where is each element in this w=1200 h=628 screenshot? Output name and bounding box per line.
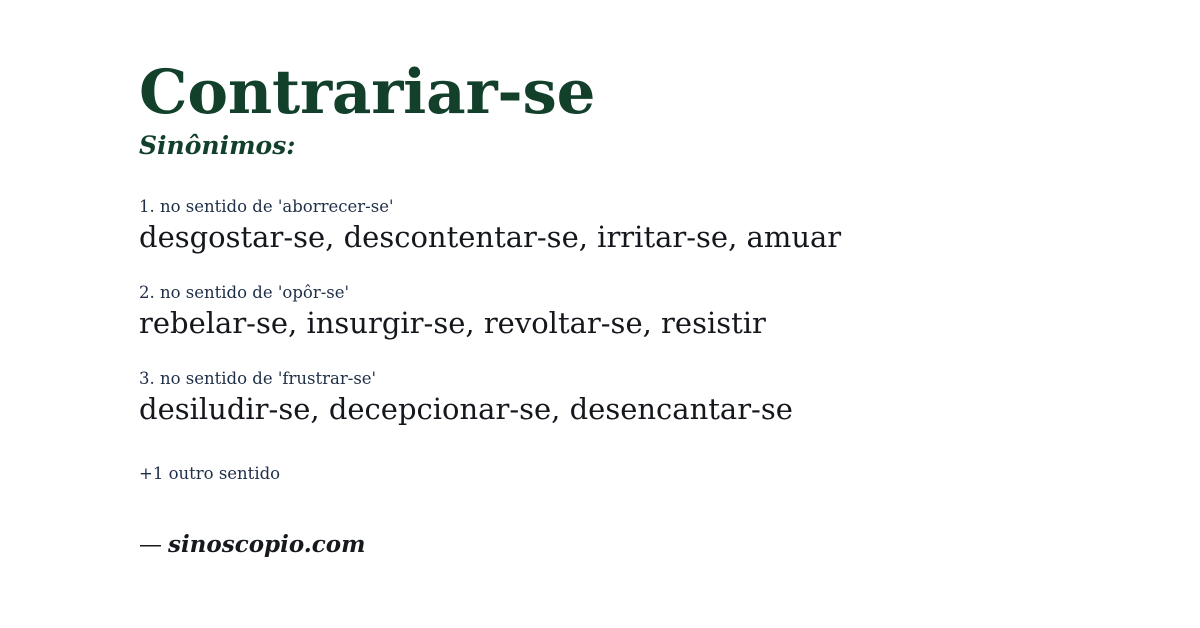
em-dash-icon: — [139,532,168,558]
more-senses-note: +1 outro sentido [139,464,280,485]
sense-synonyms: desgostar-se, descontentar-se, irritar-s… [139,220,1139,255]
sense-block: 1. no sentido de 'aborrecer-se' desgosta… [139,197,1139,255]
section-label-synonyms: Sinônimos: [139,133,296,158]
sense-block: 2. no sentido de 'opôr-se' rebelar-se, i… [139,283,1139,341]
sense-synonyms: rebelar-se, insurgir-se, revoltar-se, re… [139,306,1139,341]
sense-label: 2. no sentido de 'opôr-se' [139,283,1139,304]
sense-label: 1. no sentido de 'aborrecer-se' [139,197,1139,218]
sense-block: 3. no sentido de 'frustrar-se' desiludir… [139,369,1139,427]
attribution: —sinoscopio.com [139,533,366,557]
attribution-source: sinoscopio.com [168,531,366,558]
page-title: Contrariar-se [139,62,595,123]
sense-label: 3. no sentido de 'frustrar-se' [139,369,1139,390]
sense-list: 1. no sentido de 'aborrecer-se' desgosta… [139,197,1139,427]
sense-synonyms: desiludir-se, decepcionar-se, desencanta… [139,392,1139,427]
synonym-card: Contrariar-se Sinônimos: 1. no sentido d… [0,0,1200,628]
